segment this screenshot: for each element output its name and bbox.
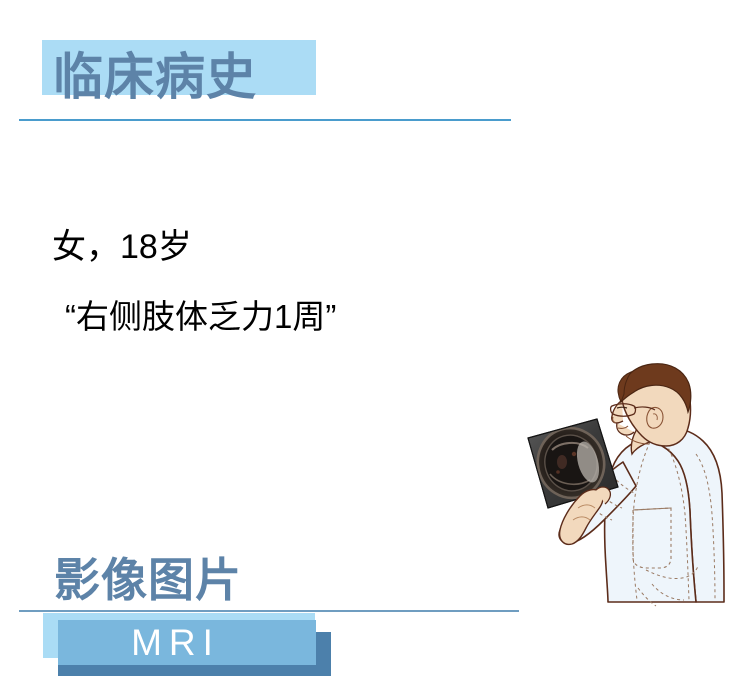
doctor-illustration	[500, 362, 751, 624]
clinical-history-heading: 临床病史	[53, 49, 257, 105]
imaging-heading: 影像图片	[54, 553, 242, 607]
clinical-history-divider	[19, 119, 511, 121]
mri-badge-label: MRI	[58, 622, 293, 664]
slide-canvas: 临床病史 女，18岁 “右侧肢体乏力1周”	[0, 0, 751, 696]
doctor-reading-mri-film-icon	[500, 362, 751, 624]
patient-demographics-text: 女，18岁	[52, 226, 192, 268]
chief-complaint-text: “右侧肢体乏力1周”	[65, 296, 336, 338]
imaging-divider	[19, 610, 519, 612]
